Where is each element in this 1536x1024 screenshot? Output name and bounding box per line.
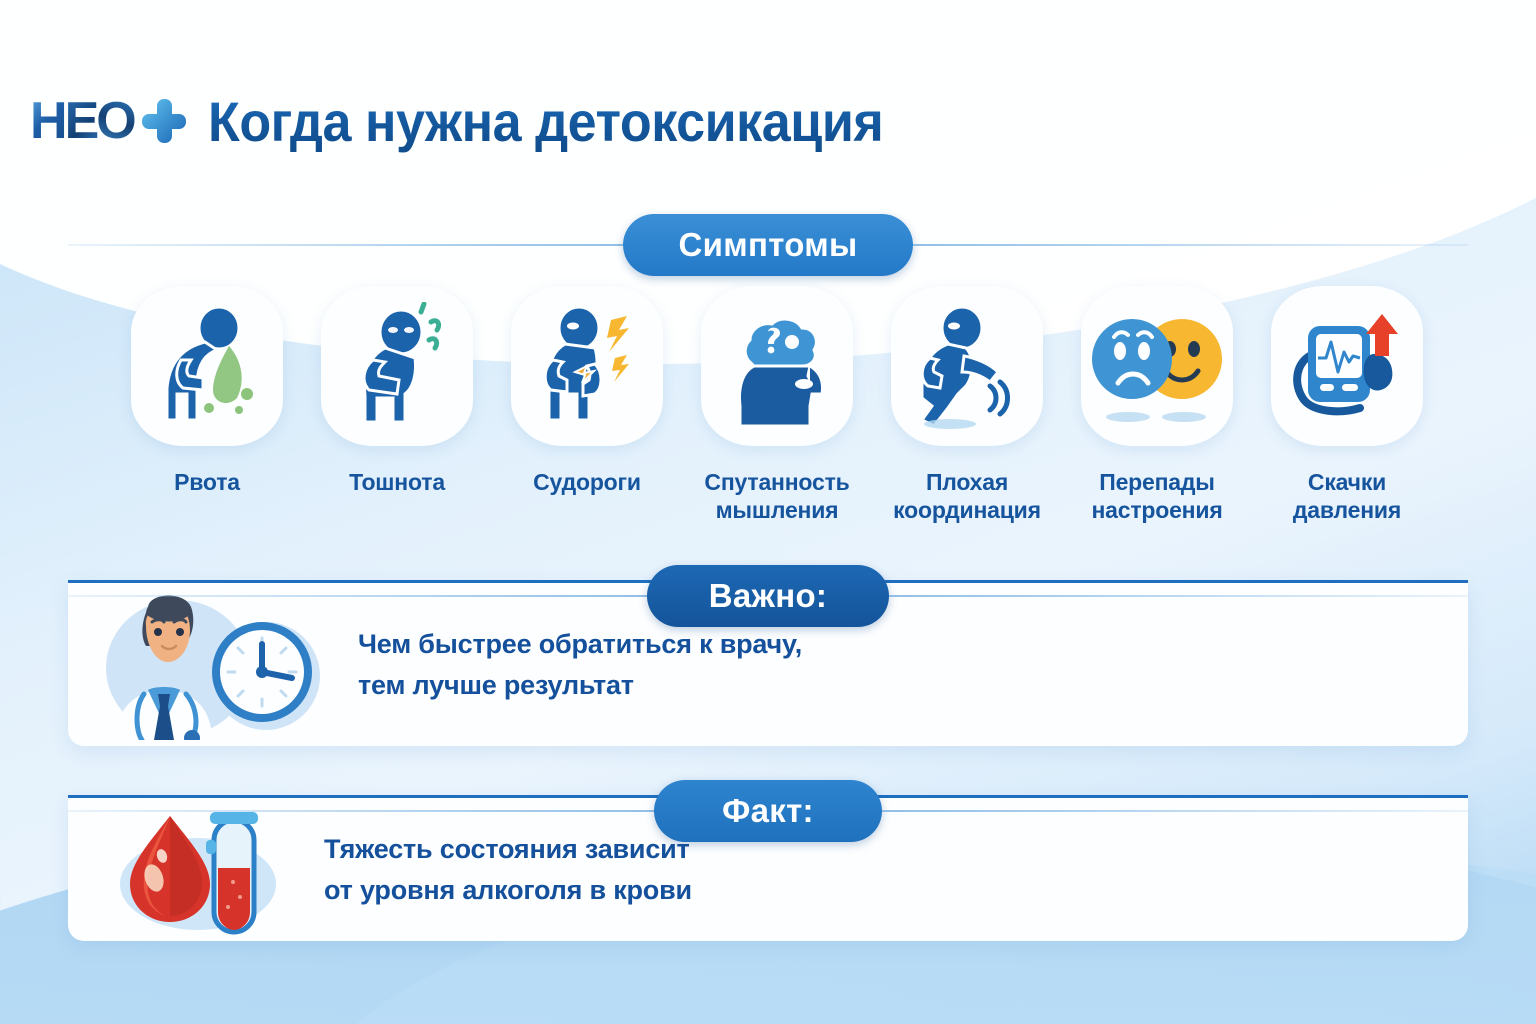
- header: НЕО Когда нужна детоксикация: [0, 78, 1536, 164]
- symptom-label-line1: Перепады: [1099, 469, 1215, 495]
- divider-line-left: [68, 595, 647, 597]
- plus-icon: [140, 97, 188, 145]
- symptom-label-line2: мышления: [716, 497, 839, 523]
- important-text: Чем быстрее обратиться к врачу, тем лучш…: [358, 624, 802, 705]
- fact-divider: Факт:: [68, 780, 1468, 842]
- symptom-card: [1271, 286, 1423, 446]
- symptom-label-line1: Спутанность: [704, 469, 849, 495]
- divider-line-right: [882, 810, 1468, 812]
- cramps-icon: [527, 302, 647, 430]
- coordination-icon: [904, 302, 1030, 430]
- confusion-icon: [714, 302, 840, 430]
- symptom-card: [701, 286, 853, 446]
- brand-logo: НЕО: [30, 95, 188, 147]
- symptom-item-vomiting: Рвота: [128, 286, 286, 524]
- symptom-card: [321, 286, 473, 446]
- symptom-label: Спутанность мышления: [704, 468, 849, 524]
- important-text-line1: Чем быстрее обратиться к врачу,: [358, 629, 802, 659]
- symptom-card: [131, 286, 283, 446]
- divider-line-left: [68, 244, 623, 246]
- divider-line-right: [889, 595, 1468, 597]
- important-section-badge: Важно:: [647, 565, 889, 627]
- symptom-label: Рвота: [174, 468, 240, 496]
- symptom-label: Перепады настроения: [1091, 468, 1222, 524]
- divider-line-right: [913, 244, 1468, 246]
- symptom-label-line2: координация: [893, 497, 1041, 523]
- symptom-card: [891, 286, 1043, 446]
- logo-letter-n: Н: [30, 95, 67, 147]
- symptom-label: Скачки давления: [1293, 468, 1401, 524]
- symptom-item-coordination: Плохая координация: [888, 286, 1046, 524]
- symptom-label-line2: давления: [1293, 497, 1401, 523]
- symptom-label: Плохая координация: [893, 468, 1041, 524]
- symptom-label: Судороги: [533, 468, 641, 496]
- symptom-item-mood-swings: Перепады настроения: [1078, 286, 1236, 524]
- fact-section-badge: Факт:: [654, 780, 882, 842]
- blood-pressure-icon: [1284, 304, 1410, 428]
- symptoms-divider: Симптомы: [68, 214, 1468, 276]
- symptom-item-nausea: Тошнота: [318, 286, 476, 524]
- symptom-label-line1: Плохая: [926, 469, 1008, 495]
- symptoms-section-badge: Симптомы: [623, 214, 914, 276]
- important-text-line2: тем лучше результат: [358, 670, 634, 700]
- symptom-label: Тошнота: [349, 468, 445, 496]
- symptoms-list: Рвота Тошнота: [128, 286, 1426, 524]
- symptom-label-line1: Скачки: [1308, 469, 1386, 495]
- logo-letter-e: Е: [65, 95, 99, 147]
- symptom-item-confusion: Спутанность мышления: [698, 286, 856, 524]
- symptom-item-cramps: Судороги: [508, 286, 666, 524]
- symptom-label-line2: настроения: [1091, 497, 1222, 523]
- nausea-icon: [337, 302, 457, 430]
- vomiting-icon: [147, 302, 267, 430]
- important-divider: Важно:: [68, 565, 1468, 627]
- mood-swings-icon: [1092, 305, 1222, 427]
- fact-text-line2: от уровня алкоголя в крови: [324, 875, 692, 905]
- page-title: Когда нужна детоксикация: [208, 89, 883, 154]
- symptom-card: [511, 286, 663, 446]
- logo-letter-o: О: [96, 95, 135, 147]
- symptom-card: [1081, 286, 1233, 446]
- divider-line-left: [68, 810, 654, 812]
- symptom-item-blood-pressure: Скачки давления: [1268, 286, 1426, 524]
